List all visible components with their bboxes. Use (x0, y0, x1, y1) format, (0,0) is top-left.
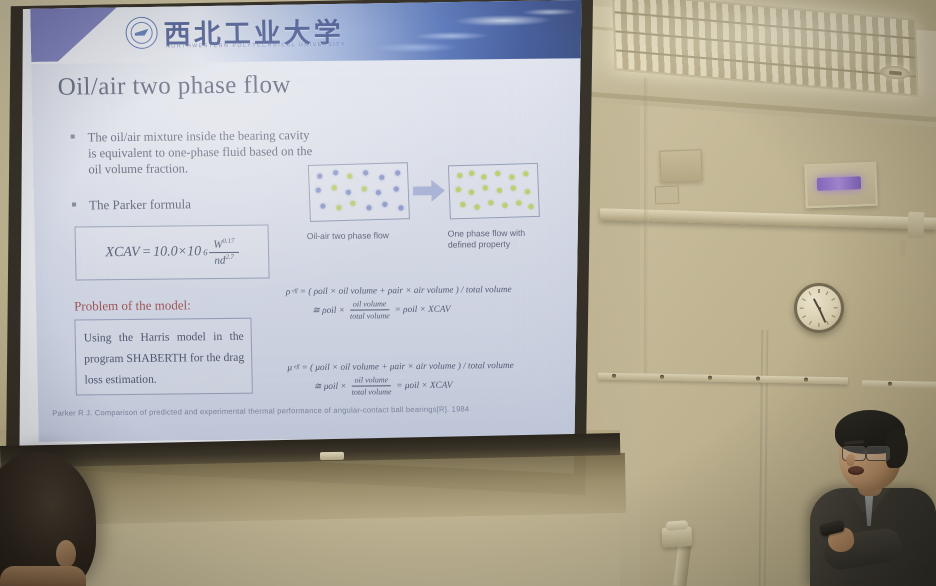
presenter (806, 404, 936, 586)
mu-symbol: μ (287, 361, 292, 374)
viscosity-equation-line2-prefix: ≅ μoil × (314, 380, 347, 393)
viscosity-equation-line2-suffix: = μoil × XCAV (396, 379, 452, 393)
microphone-head-icon (666, 520, 689, 531)
audience-member-neck (0, 566, 86, 586)
eyeglasses-icon (866, 446, 890, 461)
slide-bullet-2: The Parker formula (89, 196, 191, 213)
wall-speaker-box (659, 149, 702, 182)
problem-box: Using the Harris model in the program SH… (74, 318, 253, 396)
formula-coefficient: 10.0×10 (153, 244, 201, 260)
audience-member-ear (56, 540, 76, 568)
slide-citation: Parker R J. Comparison of predicted and … (52, 404, 482, 418)
exit-sign (804, 162, 878, 209)
formula-denominator: nd2.7 (210, 252, 238, 266)
presenter-nose (846, 454, 855, 466)
formula-lhs: XCAV (105, 245, 140, 261)
wall-plate (655, 186, 680, 205)
formula-coefficient-exp: 6 (203, 247, 208, 257)
density-equation-line2-prefix: ≅ ρoil × (312, 304, 345, 317)
presenter-mouth (848, 466, 864, 475)
bullet-2-text: The Parker formula (89, 196, 191, 212)
formula-eq: = (142, 245, 152, 261)
projected-slide: 西北工业大学 NORTHWESTERN POLYTECHNICAL UNIVER… (30, 0, 599, 442)
diagram-right-caption: One phase flow with defined property (448, 228, 543, 251)
density-volume-fraction: oil volume total volume (347, 299, 393, 321)
density-equation: ρeff = ( ρoil × oil volume + ρair × air … (286, 283, 512, 322)
diagram-left-caption: Oil-air two phase flow (307, 230, 417, 242)
parker-formula: XCAV = 10.0×106 W0.17 nd2.7 (105, 237, 239, 267)
eyeglasses-bridge (863, 451, 868, 453)
slide-header-banner: 西北工业大学 NORTHWESTERN POLYTECHNICAL UNIVER… (30, 0, 591, 64)
exit-sign-glow-icon (817, 176, 861, 191)
bullet-marker-icon (71, 135, 75, 139)
density-equation-line2-suffix: = ρoil × XCAV (395, 303, 451, 317)
one-phase-flow-diagram (448, 163, 540, 219)
projection-screen-surface: 西北工业大学 NORTHWESTERN POLYTECHNICAL UNIVER… (16, 0, 596, 496)
transform-arrow-icon (413, 180, 445, 202)
slide-bullet-1: The oil/air mixture inside the bearing c… (88, 127, 314, 177)
parker-formula-box: XCAV = 10.0×106 W0.17 nd2.7 (75, 225, 270, 281)
whiteboard-clip (320, 452, 344, 460)
wall-mounting-rail (862, 380, 936, 388)
problem-label: Problem of the model: (74, 297, 191, 314)
clock-hour-hand (813, 298, 820, 309)
two-phase-flow-diagram (308, 162, 410, 222)
density-equation-line1: = ( ρoil × oil volume + ρair × air volum… (300, 283, 512, 298)
slide-title: Oil/air two phase flow (57, 71, 291, 101)
viscosity-equation: μeff = ( μoil × oil volume + μair × air … (287, 359, 514, 398)
wall-panel-seam (644, 78, 649, 378)
viscosity-volume-fraction: oil volume total volume (348, 375, 394, 397)
rail-end-cap (908, 212, 925, 239)
lecture-room-photo: 西北工业大学 NORTHWESTERN POLYTECHNICAL UNIVER… (0, 0, 936, 586)
viscosity-equation-line1: = ( μoil × oil volume + μair × air volum… (301, 359, 513, 374)
bullet-marker-icon (72, 203, 76, 207)
problem-text: Using the Harris model in the program SH… (84, 326, 245, 391)
projection-screen-frame: 西北工业大学 NORTHWESTERN POLYTECHNICAL UNIVER… (6, 0, 602, 508)
formula-numerator: W0.17 (209, 237, 238, 252)
wall-clock (794, 283, 844, 333)
bullet-1-text: The oil/air mixture inside the bearing c… (88, 128, 313, 176)
formula-fraction: W0.17 nd2.7 (209, 237, 239, 266)
clock-minute-hand (818, 308, 826, 323)
rho-symbol: ρ (286, 285, 291, 298)
npu-crest-logo-icon (125, 17, 158, 49)
